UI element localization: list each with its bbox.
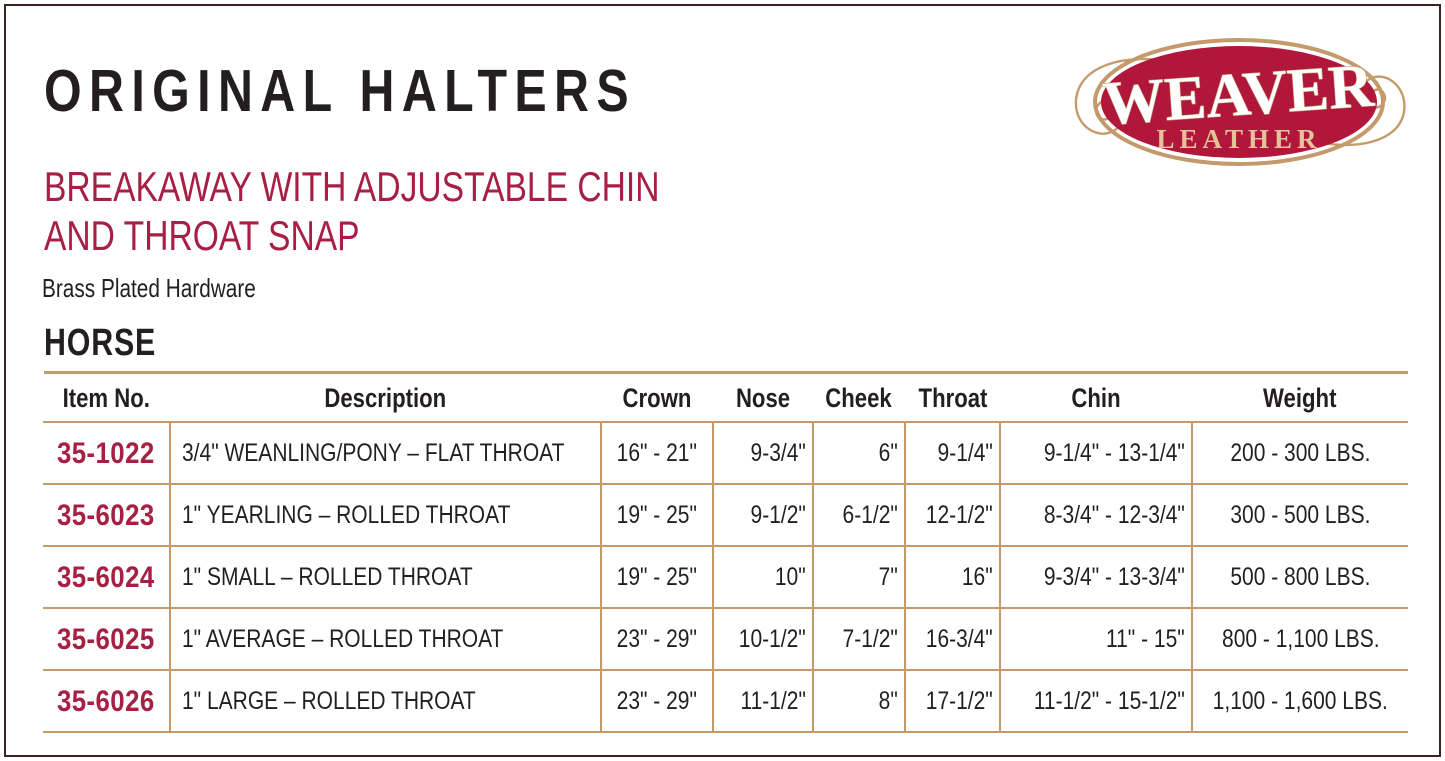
table-row: 35-1022 3/4" WEANLING/PONY – FLAT THROAT… xyxy=(43,422,1408,484)
column-header-nose: Nose xyxy=(713,385,813,422)
column-header-crown-label: Crown xyxy=(623,385,692,412)
cell-throat: 16-3/4" xyxy=(905,608,1000,670)
cell-crown: 23" - 29" xyxy=(601,608,713,670)
cell-crown: 19" - 25" xyxy=(601,546,713,608)
cell-item-no-text: 35-6023 xyxy=(57,503,155,528)
cell-chin-text: 8-3/4" - 12-3/4" xyxy=(1044,503,1185,528)
column-header-description: Description xyxy=(170,385,601,422)
cell-chin: 9-3/4" - 13-3/4" xyxy=(1000,546,1192,608)
cell-nose: 10-1/2" xyxy=(713,608,813,670)
cell-nose-text: 9-1/2" xyxy=(751,503,806,528)
cell-throat: 16" xyxy=(905,546,1000,608)
cell-cheek-text: 8" xyxy=(879,689,898,714)
column-header-cheek-label: Cheek xyxy=(826,385,892,412)
cell-item-no[interactable]: 35-1022 xyxy=(43,422,170,484)
cell-cheek-text: 7-1/2" xyxy=(843,627,898,652)
cell-throat-text: 9-1/4" xyxy=(938,441,993,466)
cell-crown-text: 23" - 29" xyxy=(617,627,697,652)
logo-sub-brand-text: LEATHER xyxy=(1156,124,1321,154)
cell-chin: 8-3/4" - 12-3/4" xyxy=(1000,484,1192,546)
column-header-throat: Throat xyxy=(905,385,1000,422)
spec-sheet-card: ORIGINAL HALTERS BREAKAWAY WITH ADJUSTAB… xyxy=(0,0,1445,761)
column-header-chin: Chin xyxy=(1000,385,1192,422)
cell-throat-text: 12-1/2" xyxy=(926,503,993,528)
cell-chin-text: 9-3/4" - 13-3/4" xyxy=(1044,565,1185,590)
cell-item-no-text: 35-6025 xyxy=(57,627,155,652)
cell-item-no[interactable]: 35-6024 xyxy=(43,546,170,608)
cell-crown: 19" - 25" xyxy=(601,484,713,546)
cell-nose: 10" xyxy=(713,546,813,608)
cell-cheek: 6" xyxy=(813,422,905,484)
cell-nose-text: 10" xyxy=(775,565,806,590)
cell-nose-text: 11-1/2" xyxy=(741,689,806,714)
cell-weight: 200 - 300 LBS. xyxy=(1192,422,1408,484)
cell-crown-text: 19" - 25" xyxy=(617,565,697,590)
cell-crown: 23" - 29" xyxy=(601,670,713,732)
cell-cheek-text: 7" xyxy=(879,565,898,590)
column-header-cheek: Cheek xyxy=(813,385,905,422)
cell-chin: 11-1/2" - 15-1/2" xyxy=(1000,670,1192,732)
cell-weight: 1,100 - 1,600 LBS. xyxy=(1192,670,1408,732)
cell-cheek: 8" xyxy=(813,670,905,732)
cell-description-text: 1" SMALL – ROLLED THROAT xyxy=(182,565,473,590)
section-divider xyxy=(44,371,1408,374)
cell-weight-text: 500 - 800 LBS. xyxy=(1230,565,1370,590)
cell-chin-text: 11" - 15" xyxy=(1106,627,1185,652)
cell-weight: 800 - 1,100 LBS. xyxy=(1192,608,1408,670)
section-title: HORSE xyxy=(44,323,156,363)
column-header-description-label: Description xyxy=(325,385,447,412)
cell-description: 1" SMALL – ROLLED THROAT xyxy=(170,546,601,608)
cell-cheek-text: 6-1/2" xyxy=(843,503,898,528)
cell-item-no-text: 35-1022 xyxy=(57,441,155,466)
page-subtitle: BREAKAWAY WITH ADJUSTABLE CHIN AND THROA… xyxy=(44,162,659,260)
cell-throat-text: 16" xyxy=(962,565,993,590)
weaver-leather-logo: WEAVER LEATHER xyxy=(1063,22,1415,179)
table-row: 35-6025 1" AVERAGE – ROLLED THROAT 23" -… xyxy=(43,608,1408,670)
column-header-throat-label: Throat xyxy=(918,385,987,412)
cell-nose: 9-3/4" xyxy=(713,422,813,484)
table-row: 35-6023 1" YEARLING – ROLLED THROAT 19" … xyxy=(43,484,1408,546)
weaver-leather-logo-svg: WEAVER LEATHER xyxy=(1063,22,1415,179)
cell-cheek: 7" xyxy=(813,546,905,608)
hardware-note: Brass Plated Hardware xyxy=(42,274,256,302)
cell-description-text: 1" YEARLING – ROLLED THROAT xyxy=(182,503,510,528)
cell-weight-text: 1,100 - 1,600 LBS. xyxy=(1213,689,1388,714)
cell-crown-text: 23" - 29" xyxy=(617,689,697,714)
cell-chin-text: 11-1/2" - 15-1/2" xyxy=(1034,689,1185,714)
cell-cheek: 7-1/2" xyxy=(813,608,905,670)
cell-throat: 17-1/2" xyxy=(905,670,1000,732)
table-header-row: Item No. Description Crown Nose Cheek Th… xyxy=(43,385,1408,422)
cell-throat: 12-1/2" xyxy=(905,484,1000,546)
cell-description-text: 1" AVERAGE – ROLLED THROAT xyxy=(182,627,503,652)
cell-item-no-text: 35-6024 xyxy=(57,565,155,590)
cell-nose: 9-1/2" xyxy=(713,484,813,546)
cell-crown-text: 19" - 25" xyxy=(617,503,697,528)
cell-weight-text: 200 - 300 LBS. xyxy=(1230,441,1370,466)
cell-weight: 300 - 500 LBS. xyxy=(1192,484,1408,546)
cell-description-text: 1" LARGE – ROLLED THROAT xyxy=(182,689,476,714)
cell-crown: 16" - 21" xyxy=(601,422,713,484)
cell-throat: 9-1/4" xyxy=(905,422,1000,484)
column-header-item-no: Item No. xyxy=(43,385,170,422)
column-header-weight-label: Weight xyxy=(1263,385,1336,412)
spec-table-wrapper: Item No. Description Crown Nose Cheek Th… xyxy=(43,385,1408,733)
cell-item-no-text: 35-6026 xyxy=(57,689,155,714)
page-title: ORIGINAL HALTERS xyxy=(44,62,636,121)
column-header-weight: Weight xyxy=(1192,385,1408,422)
spec-table: Item No. Description Crown Nose Cheek Th… xyxy=(43,385,1408,733)
cell-weight: 500 - 800 LBS. xyxy=(1192,546,1408,608)
cell-item-no[interactable]: 35-6025 xyxy=(43,608,170,670)
cell-weight-text: 800 - 1,100 LBS. xyxy=(1222,627,1380,652)
cell-item-no[interactable]: 35-6023 xyxy=(43,484,170,546)
cell-throat-text: 17-1/2" xyxy=(926,689,993,714)
cell-description-text: 3/4" WEANLING/PONY – FLAT THROAT xyxy=(182,441,564,466)
column-header-crown: Crown xyxy=(601,385,713,422)
cell-weight-text: 300 - 500 LBS. xyxy=(1230,503,1370,528)
cell-crown-text: 16" - 21" xyxy=(617,441,697,466)
cell-item-no[interactable]: 35-6026 xyxy=(43,670,170,732)
cell-description: 1" AVERAGE – ROLLED THROAT xyxy=(170,608,601,670)
cell-nose: 11-1/2" xyxy=(713,670,813,732)
cell-cheek-text: 6" xyxy=(879,441,898,466)
cell-description: 1" YEARLING – ROLLED THROAT xyxy=(170,484,601,546)
table-row: 35-6026 1" LARGE – ROLLED THROAT 23" - 2… xyxy=(43,670,1408,732)
column-header-nose-label: Nose xyxy=(736,385,790,412)
cell-throat-text: 16-3/4" xyxy=(926,627,993,652)
cell-chin: 9-1/4" - 13-1/4" xyxy=(1000,422,1192,484)
cell-nose-text: 10-1/2" xyxy=(739,627,806,652)
column-header-item-no-label: Item No. xyxy=(63,385,150,412)
cell-cheek: 6-1/2" xyxy=(813,484,905,546)
cell-nose-text: 9-3/4" xyxy=(751,441,806,466)
cell-description: 3/4" WEANLING/PONY – FLAT THROAT xyxy=(170,422,601,484)
cell-chin-text: 9-1/4" - 13-1/4" xyxy=(1044,441,1185,466)
table-row: 35-6024 1" SMALL – ROLLED THROAT 19" - 2… xyxy=(43,546,1408,608)
cell-description: 1" LARGE – ROLLED THROAT xyxy=(170,670,601,732)
cell-chin: 11" - 15" xyxy=(1000,608,1192,670)
column-header-chin-label: Chin xyxy=(1071,385,1120,412)
